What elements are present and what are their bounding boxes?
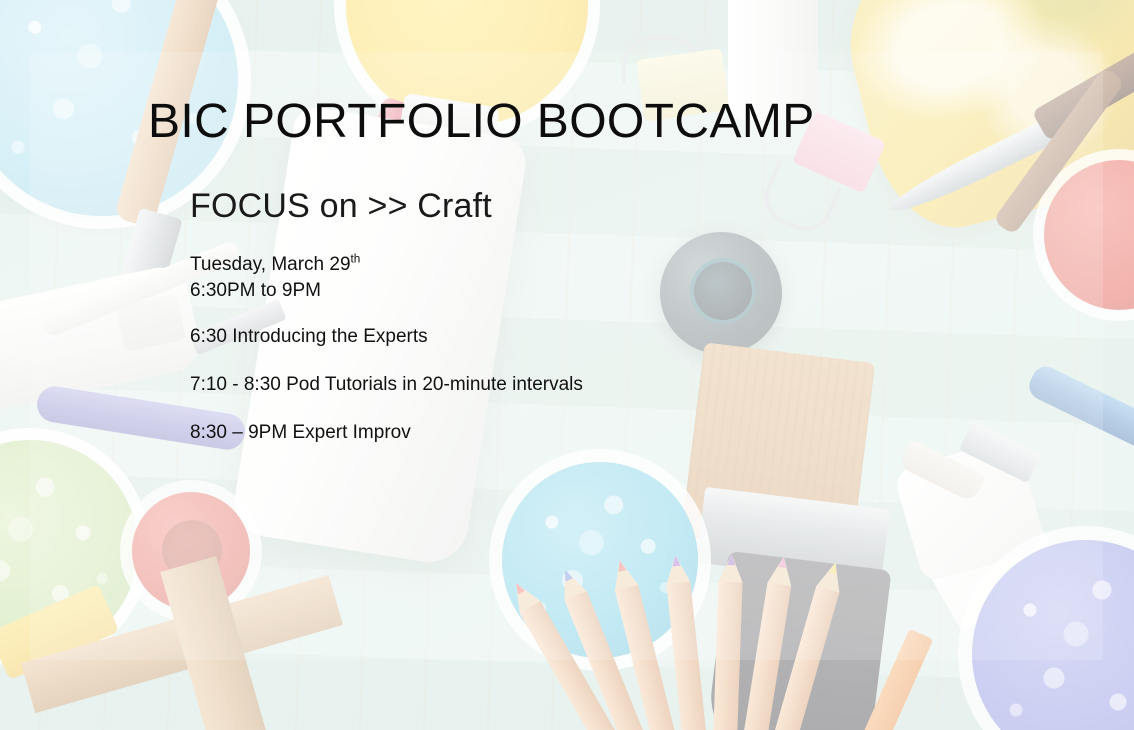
event-datetime: Tuesday, March 29th 6:30PM to 9PM (190, 252, 360, 304)
agenda-item: 8:30 – 9PM Expert Improv (190, 421, 890, 445)
agenda-item: 6:30 Introducing the Experts (190, 325, 890, 349)
date-ordinal-suffix: th (351, 253, 361, 266)
presentation-slide: BIC PORTFOLIO BOOTCAMP FOCUS on >> Craft… (0, 0, 1134, 730)
slide-subtitle: FOCUS on >> Craft (190, 187, 492, 226)
slide-content: BIC PORTFOLIO BOOTCAMP FOCUS on >> Craft… (0, 0, 1134, 730)
agenda-list: 6:30 Introducing the Experts7:10 - 8:30 … (190, 325, 890, 445)
event-time-line: 6:30PM to 9PM (190, 278, 360, 304)
slide-title: BIC PORTFOLIO BOOTCAMP (148, 94, 815, 149)
agenda-item: 7:10 - 8:30 Pod Tutorials in 20-minute i… (190, 373, 890, 397)
event-date: Tuesday, March 29 (190, 254, 351, 275)
event-date-line: Tuesday, March 29th (190, 252, 360, 278)
